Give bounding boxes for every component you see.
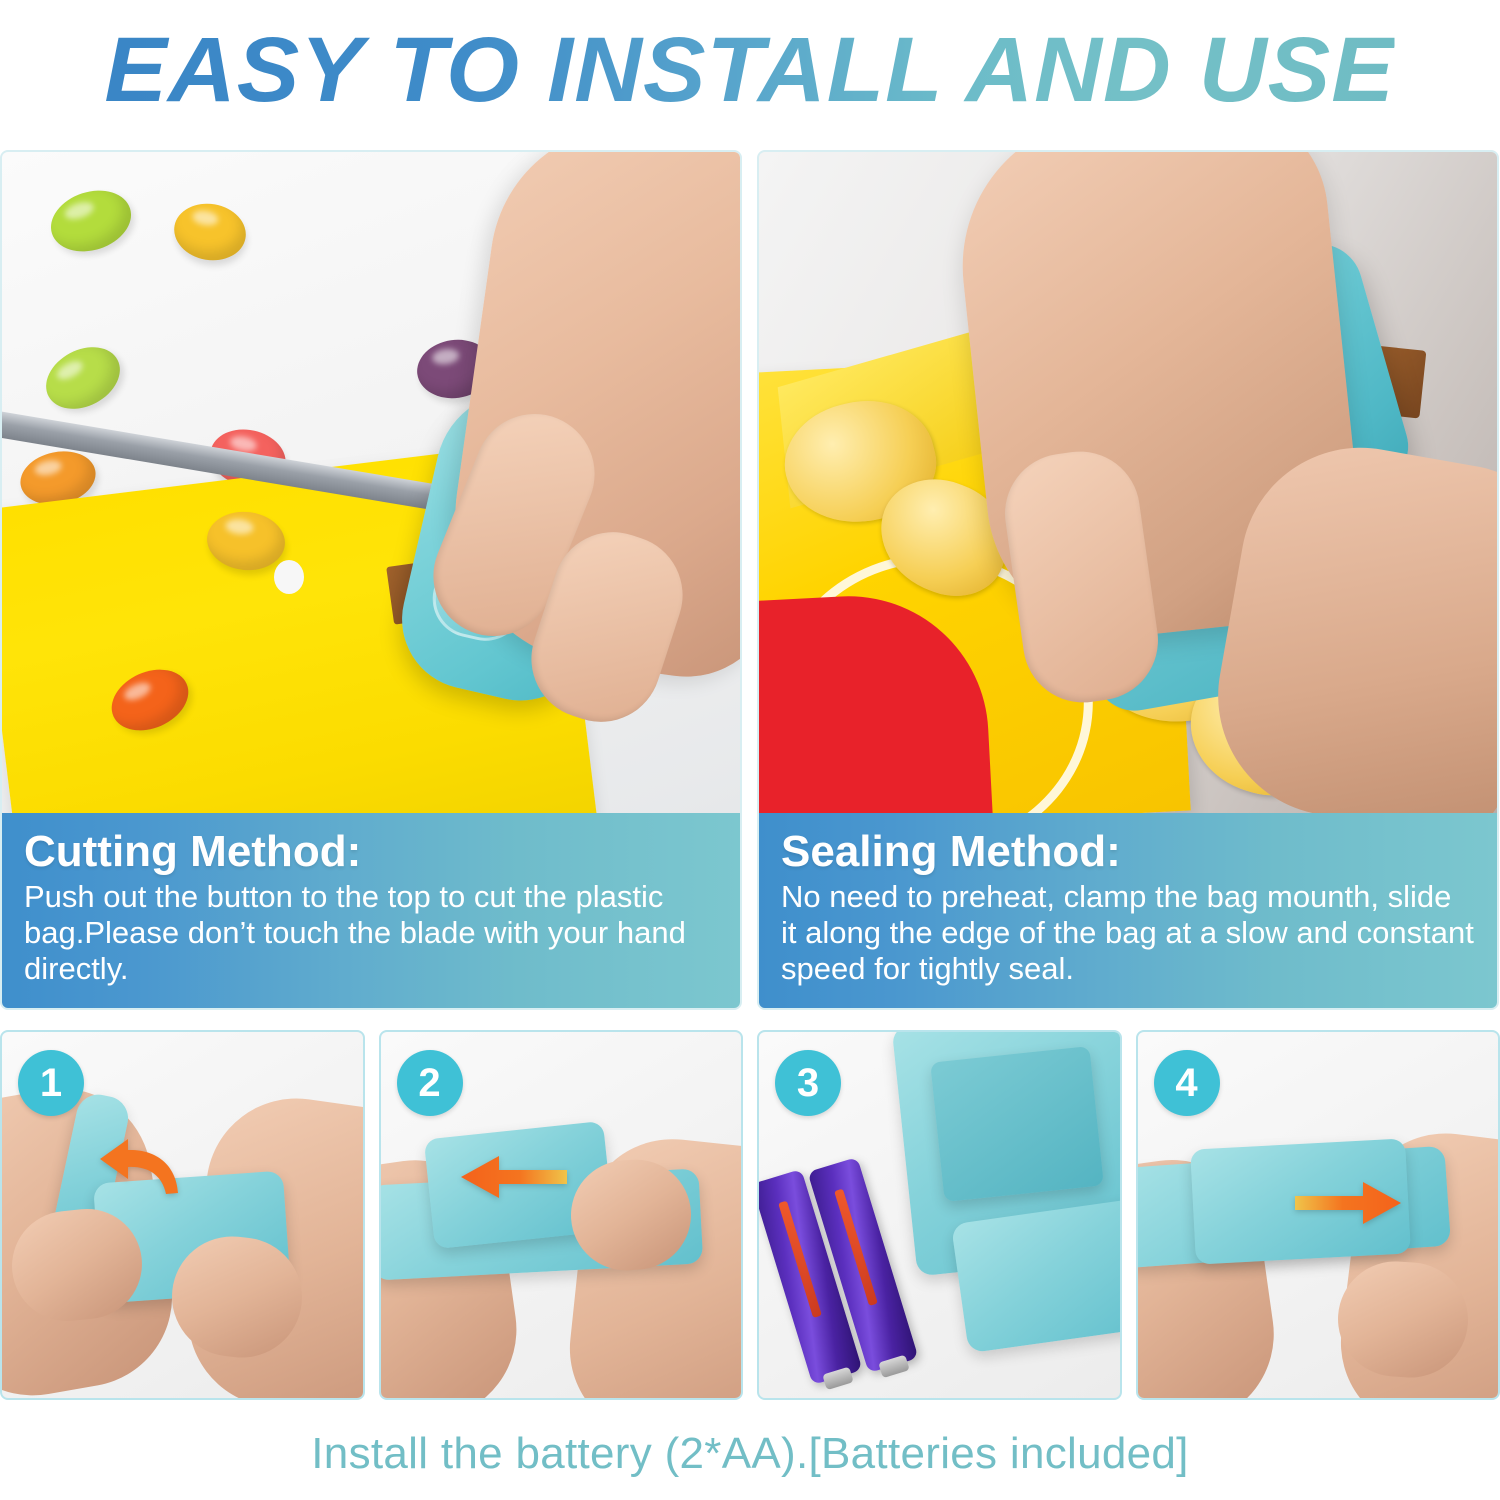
step-badge-3: 3 xyxy=(775,1050,841,1116)
step-tile-3: 3 xyxy=(757,1030,1122,1400)
left-arrow-icon xyxy=(459,1154,569,1200)
battery-label-stripe xyxy=(778,1201,822,1318)
method-panels: Cutting Method: Push out the button to t… xyxy=(0,150,1500,1010)
step-badge-1: 1 xyxy=(18,1050,84,1116)
panel-sealing: Sealing Method: No need to preheat, clam… xyxy=(757,150,1499,1010)
step-badge-2: 2 xyxy=(397,1050,463,1116)
curved-up-left-arrow-icon xyxy=(98,1137,182,1199)
battery-terminal xyxy=(878,1355,909,1378)
cutting-photo xyxy=(2,152,740,817)
sealer-compartment-inner xyxy=(930,1046,1104,1202)
page-title: EASY TO INSTALL AND USE xyxy=(105,18,1395,123)
step-tile-1: 1 xyxy=(0,1030,365,1400)
caption-body: Push out the button to the top to cut th… xyxy=(24,879,718,988)
caption-heading: Cutting Method: xyxy=(24,829,718,875)
install-steps: 1 2 3 xyxy=(0,1030,1500,1400)
battery-label-stripe xyxy=(834,1189,878,1306)
caption-sealing: Sealing Method: No need to preheat, clam… xyxy=(759,813,1497,1008)
footer-note: Install the battery (2*AA).[Batteries in… xyxy=(0,1408,1500,1500)
caption-heading: Sealing Method: xyxy=(781,829,1475,875)
right-arrow-icon xyxy=(1293,1180,1403,1226)
step-badge-4: 4 xyxy=(1154,1050,1220,1116)
bag-hang-hole xyxy=(274,560,304,594)
page-header: EASY TO INSTALL AND USE xyxy=(0,0,1500,140)
panel-cutting: Cutting Method: Push out the button to t… xyxy=(0,150,742,1010)
caption-cutting: Cutting Method: Push out the button to t… xyxy=(2,813,740,1008)
step-tile-4: 4 xyxy=(1136,1030,1500,1400)
caption-body: No need to preheat, clamp the bag mounth… xyxy=(781,879,1475,988)
battery-terminal xyxy=(822,1367,853,1390)
sealer-lower-body xyxy=(951,1197,1122,1354)
step-tile-2: 2 xyxy=(379,1030,744,1400)
sealing-photo xyxy=(759,152,1497,817)
